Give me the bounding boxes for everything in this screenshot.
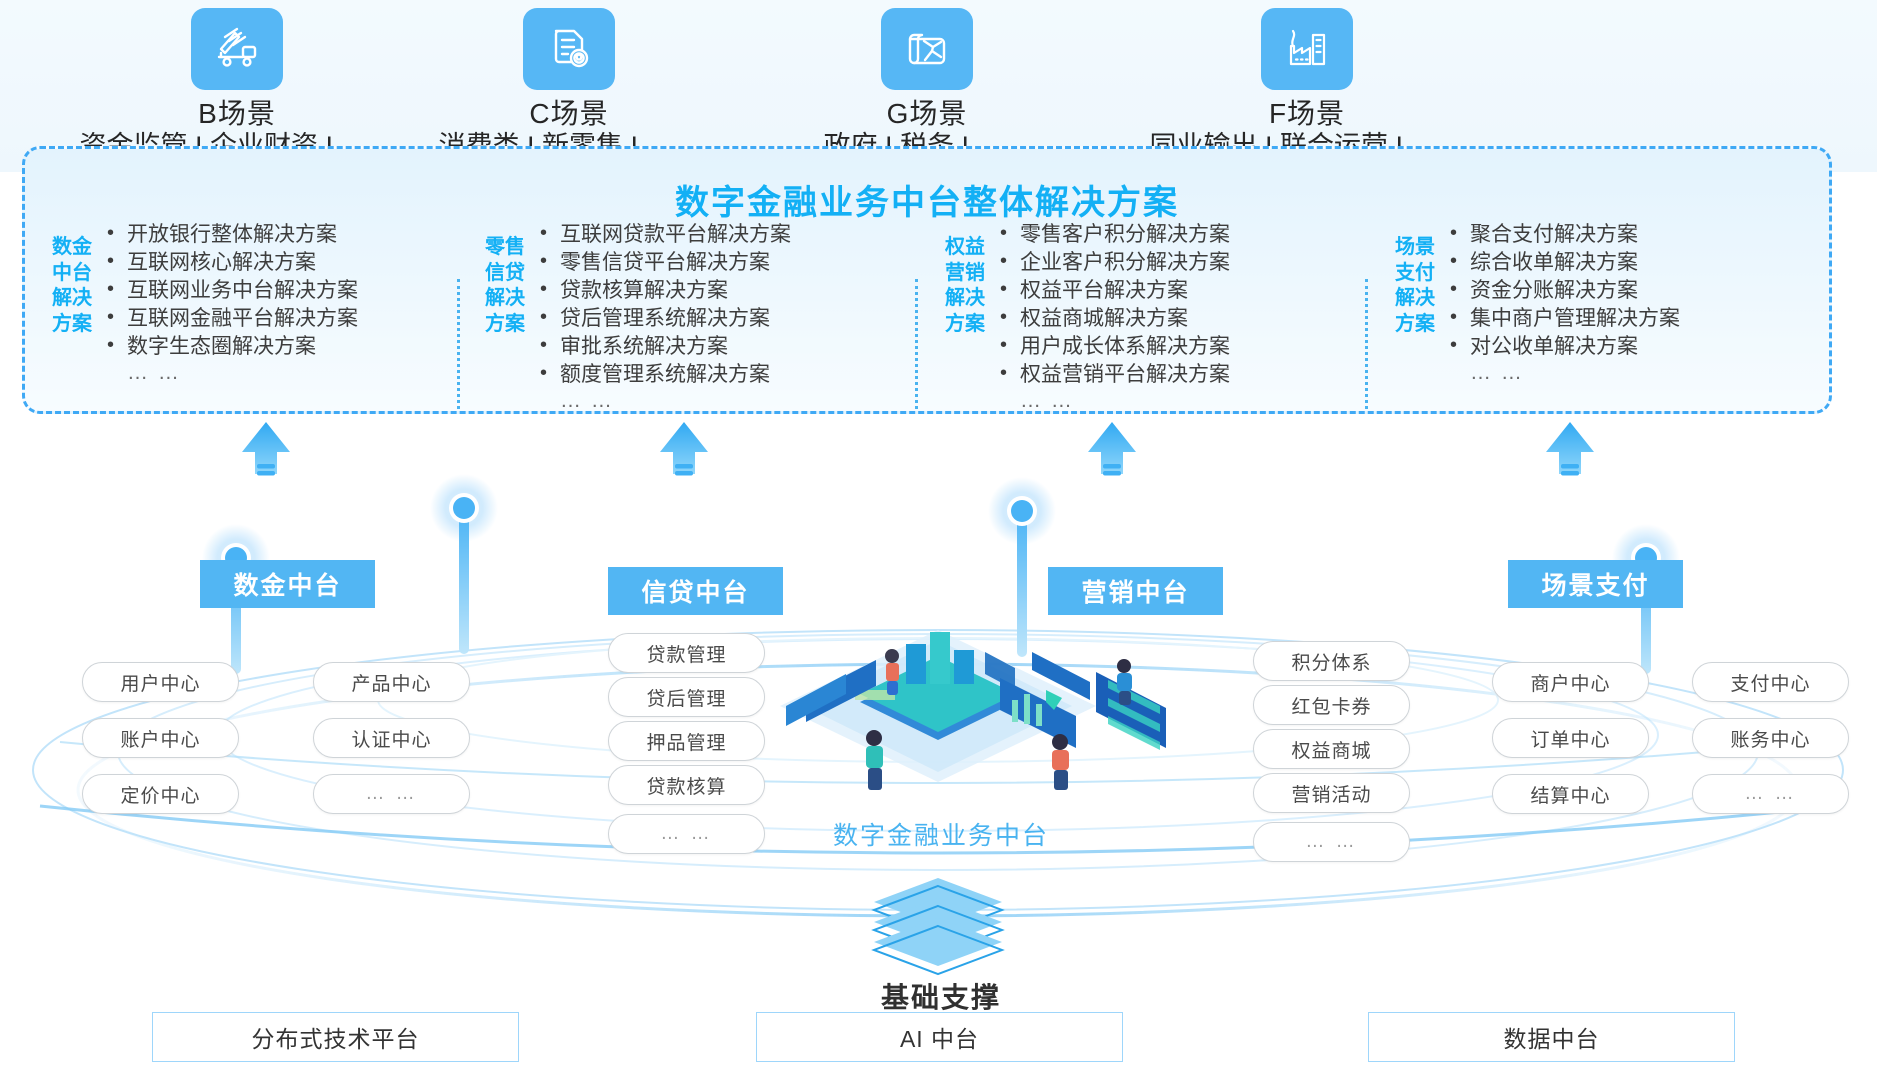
up-arrow-2: [660, 422, 708, 476]
module-pill[interactable]: 红包卡券: [1253, 685, 1410, 725]
column-label: 场景 支付 解决 方案: [1390, 235, 1440, 337]
stacked-layers-icon: [874, 878, 1002, 974]
module-pill[interactable]: 产品中心: [313, 662, 470, 702]
module-pill[interactable]: 结算中心: [1492, 774, 1649, 814]
foundation-label: 基础支撑: [806, 976, 1076, 1016]
column-divider: [1365, 279, 1368, 409]
module-pill[interactable]: 账户中心: [82, 718, 239, 758]
ellipsis: … …: [1000, 389, 1360, 413]
platform-box-digital-finance[interactable]: 数金中台: [200, 560, 375, 608]
list-item: 数字生态圈解决方案: [107, 333, 447, 361]
module-pill[interactable]: 贷后管理: [608, 677, 765, 717]
module-pill[interactable]: 认证中心: [313, 718, 470, 758]
module-pill[interactable]: 营销活动: [1253, 773, 1410, 813]
foundation-box-data[interactable]: 数据中台: [1368, 1012, 1735, 1062]
module-pill[interactable]: 积分体系: [1253, 641, 1410, 681]
document-seal-icon: [523, 8, 615, 90]
module-pill-ellipsis[interactable]: … …: [1253, 822, 1410, 862]
solution-columns: 数金 中台 解决 方案 开放银行整体解决方案 互联网核心解决方案 互联网业务中台…: [25, 221, 1829, 411]
scenario-title: F场景: [1142, 98, 1472, 130]
module-pill[interactable]: 定价中心: [82, 774, 239, 814]
list-item: 互联网金融平台解决方案: [107, 305, 447, 333]
scenario-card-g[interactable]: G场景 政府 I 税务 I ……: [762, 8, 1092, 163]
column-divider: [915, 279, 918, 409]
platform-box-credit[interactable]: 信贷中台: [608, 567, 783, 615]
module-pill[interactable]: 权益商城: [1253, 729, 1410, 769]
list-item: 企业客户积分解决方案: [1000, 249, 1360, 277]
column-divider: [457, 279, 460, 409]
column-items: 开放银行整体解决方案 互联网核心解决方案 互联网业务中台解决方案 互联网金融平台…: [107, 221, 447, 385]
scenario-title: C场景: [404, 98, 734, 130]
platform-box-payment[interactable]: 场景支付: [1508, 560, 1683, 608]
ellipsis: … …: [107, 361, 447, 385]
platform-box-marketing[interactable]: 营销中台: [1048, 567, 1223, 615]
module-pill[interactable]: 账务中心: [1692, 718, 1849, 758]
list-item: 零售信贷平台解决方案: [540, 249, 910, 277]
solution-column-digital-finance[interactable]: 数金 中台 解决 方案 开放银行整体解决方案 互联网核心解决方案 互联网业务中台…: [47, 221, 447, 407]
column-items: 互联网贷款平台解决方案 零售信贷平台解决方案 贷款核算解决方案 贷后管理系统解决…: [540, 221, 910, 413]
scenario-title: B场景: [72, 98, 402, 130]
module-pill[interactable]: 订单中心: [1492, 718, 1649, 758]
ellipsis: … …: [1450, 361, 1810, 385]
module-pill[interactable]: 用户中心: [82, 662, 239, 702]
list-item: 开放银行整体解决方案: [107, 221, 447, 249]
list-item: 权益商城解决方案: [1000, 305, 1360, 333]
diagram-canvas: B场景 资金监管 I 企业财资 I …… C场景 消费类 I 新零售 I ……: [0, 0, 1877, 1070]
list-item: 权益营销平台解决方案: [1000, 361, 1360, 389]
module-pill[interactable]: 商户中心: [1492, 662, 1649, 702]
up-arrow-4: [1546, 422, 1594, 476]
module-pill-ellipsis[interactable]: … …: [608, 814, 765, 854]
module-pill-ellipsis[interactable]: … …: [313, 774, 470, 814]
column-items: 零售客户积分解决方案 企业客户积分解决方案 权益平台解决方案 权益商城解决方案 …: [1000, 221, 1360, 413]
foundation-box-distributed[interactable]: 分布式技术平台: [152, 1012, 519, 1062]
list-item: 贷后管理系统解决方案: [540, 305, 910, 333]
list-item: 审批系统解决方案: [540, 333, 910, 361]
scenario-title: G场景: [762, 98, 1092, 130]
truck-shipping-icon: [191, 8, 283, 90]
scenario-card-f[interactable]: F场景 同业输出 I 联合运营 I ……: [1142, 8, 1472, 163]
list-item: 用户成长体系解决方案: [1000, 333, 1360, 361]
list-item: 对公收单解决方案: [1450, 333, 1810, 361]
up-arrow-3: [1088, 422, 1136, 476]
list-item: 互联网贷款平台解决方案: [540, 221, 910, 249]
platform-caption: 数字金融业务中台: [806, 816, 1076, 852]
column-label: 数金 中台 解决 方案: [47, 235, 97, 337]
pin-stem-3: [988, 477, 1056, 657]
module-pill[interactable]: 支付中心: [1692, 662, 1849, 702]
list-item: 资金分账解决方案: [1450, 277, 1810, 305]
column-items: 聚合支付解决方案 综合收单解决方案 资金分账解决方案 集中商户管理解决方案 对公…: [1450, 221, 1810, 385]
up-arrow-1: [242, 422, 290, 476]
module-pill[interactable]: 贷款管理: [608, 633, 765, 673]
ellipsis: … …: [540, 389, 910, 413]
list-item: 综合收单解决方案: [1450, 249, 1810, 277]
module-pill[interactable]: 押品管理: [608, 721, 765, 761]
list-item: 额度管理系统解决方案: [540, 361, 910, 389]
module-pill[interactable]: 贷款核算: [608, 765, 765, 805]
list-item: 互联网核心解决方案: [107, 249, 447, 277]
scenario-card-b[interactable]: B场景 资金监管 I 企业财资 I ……: [72, 8, 402, 163]
factory-icon: [1261, 8, 1353, 90]
solution-column-rights-marketing[interactable]: 权益 营销 解决 方案 零售客户积分解决方案 企业客户积分解决方案 权益平台解决…: [940, 221, 1360, 407]
list-item: 聚合支付解决方案: [1450, 221, 1810, 249]
panel-title: 数字金融业务中台整体解决方案: [25, 175, 1829, 224]
solution-column-retail-credit[interactable]: 零售 信贷 解决 方案 互联网贷款平台解决方案 零售信贷平台解决方案 贷款核算解…: [480, 221, 910, 407]
list-item: 互联网业务中台解决方案: [107, 277, 447, 305]
list-item: 权益平台解决方案: [1000, 277, 1360, 305]
solution-column-scenario-payment[interactable]: 场景 支付 解决 方案 聚合支付解决方案 综合收单解决方案 资金分账解决方案 集…: [1390, 221, 1810, 407]
column-label: 零售 信贷 解决 方案: [480, 235, 530, 337]
list-item: 零售客户积分解决方案: [1000, 221, 1360, 249]
foundation-box-ai[interactable]: AI 中台: [756, 1012, 1123, 1062]
scenario-card-c[interactable]: C场景 消费类 I 新零售 I ……: [404, 8, 734, 163]
pin-stem-2: [430, 474, 498, 654]
list-item: 贷款核算解决方案: [540, 277, 910, 305]
column-label: 权益 营销 解决 方案: [940, 235, 990, 337]
map-scroll-icon: [881, 8, 973, 90]
list-item: 集中商户管理解决方案: [1450, 305, 1810, 333]
module-pill-ellipsis[interactable]: … …: [1692, 774, 1849, 814]
solution-panel: 数字金融业务中台整体解决方案 数金 中台 解决 方案 开放银行整体解决方案 互联…: [22, 146, 1832, 414]
isometric-illustration: [780, 630, 1166, 790]
